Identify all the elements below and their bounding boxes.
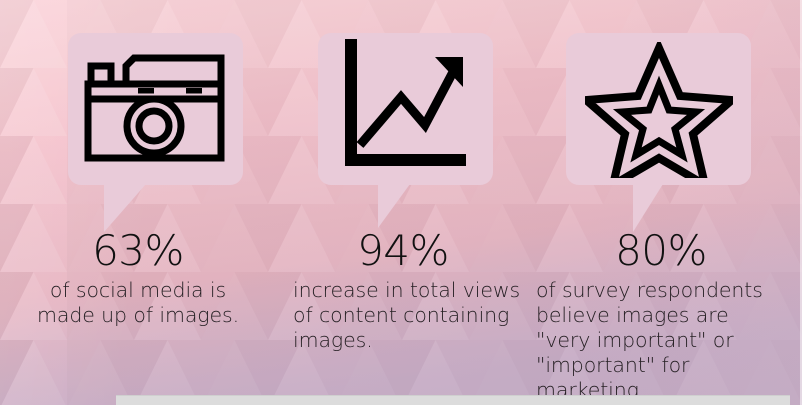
stat-column-3: 80% of survey respondents believe images… <box>530 228 792 403</box>
stat-description-3-line-2: believe images are <box>536 303 792 328</box>
star-icon <box>585 42 733 178</box>
stat-bubble-3-tail <box>633 184 663 232</box>
stat-description-1-line-1: of social media is <box>16 278 260 303</box>
stat-description-3-line-4: "important" for <box>536 353 792 378</box>
stat-value-1: 63% <box>16 228 260 274</box>
stat-description-3-line-1: of survey respondents <box>536 278 792 303</box>
stat-description-1: of social media is made up of images. <box>16 278 260 328</box>
stat-description-2-line-3: images. <box>293 328 525 353</box>
stat-column-1: 63% of social media is made up of images… <box>16 228 260 328</box>
stat-description-1-line-2: made up of images. <box>16 303 260 328</box>
stat-description-2: increase in total views of content conta… <box>281 278 525 353</box>
line-chart-up-icon <box>340 35 470 167</box>
stat-bubble-2-tail <box>378 184 410 228</box>
stat-bubble-1-tail <box>104 184 146 232</box>
stat-value-2: 94% <box>281 228 525 274</box>
stat-description-3: of survey respondents believe images are… <box>530 278 792 403</box>
bottom-progress-bar[interactable] <box>116 395 790 405</box>
stat-description-2-line-2: of content containing <box>293 303 525 328</box>
stat-description-2-line-1: increase in total views <box>293 278 525 303</box>
stat-value-3: 80% <box>530 228 792 274</box>
camera-icon <box>82 50 230 168</box>
infographic-slide: 63% of social media is made up of images… <box>0 0 802 405</box>
stat-description-3-line-3: "very important" or <box>536 328 792 353</box>
stat-column-2: 94% increase in total views of content c… <box>281 228 525 353</box>
